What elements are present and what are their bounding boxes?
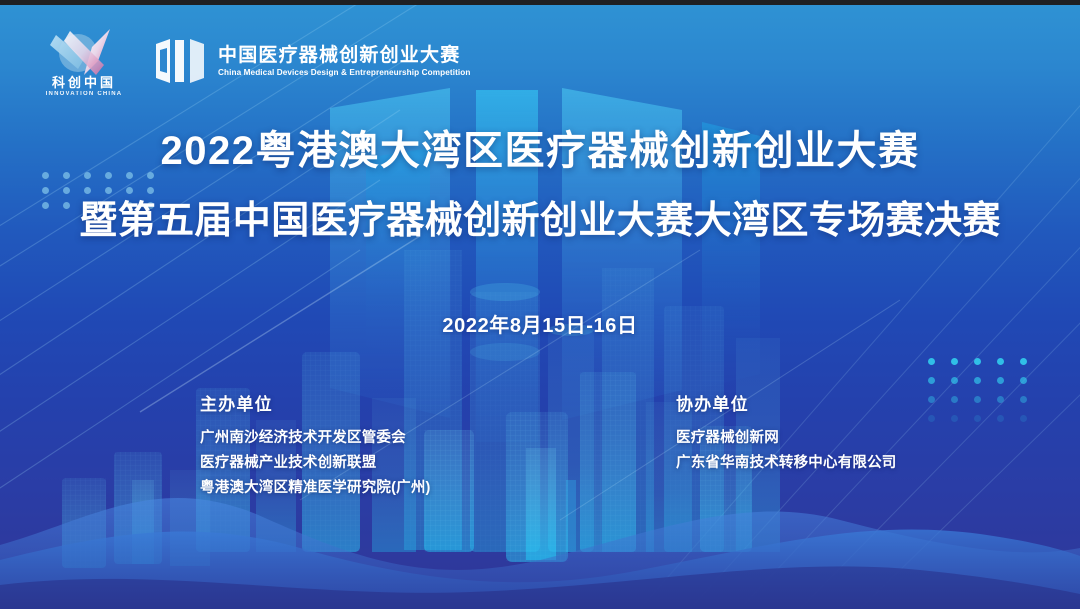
headline-line-2: 暨第五届中国医疗器械创新创业大赛大湾区专场赛决赛 [0, 199, 1080, 245]
co-organizer-block: 协办单位 医疗器械创新网 广东省华南技术转移中心有限公司 [676, 390, 897, 476]
open-door-mark-icon [154, 37, 206, 85]
competition-wordmark: 中国医疗器械创新创业大赛 China Medical Devices Desig… [218, 45, 470, 78]
event-poster: 科创中国 INNOVATION CHINA 中国医疗器械创新创业大赛 China… [0, 0, 1080, 609]
competition-name-en: China Medical Devices Design & Entrepren… [218, 68, 470, 77]
main-organizer-title: 主办单位 [200, 390, 431, 415]
competition-name-cn: 中国医疗器械创新创业大赛 [218, 45, 470, 67]
main-organizer-item: 粤港澳大湾区精准医学研究院(广州) [200, 476, 431, 501]
grid-dot [974, 415, 981, 422]
grid-dot [1020, 377, 1027, 384]
event-date: 2022年8月15日-16日 [0, 309, 1080, 338]
grid-dot [951, 377, 958, 384]
poster-headline: 2022粤港澳大湾区医疗器械创新创业大赛 暨第五届中国医疗器械创新创业大赛大湾区… [0, 128, 1080, 245]
grid-dot [1020, 396, 1027, 403]
grid-dot [951, 358, 958, 365]
grid-dot [928, 396, 935, 403]
co-organizer-item: 广东省华南技术转移中心有限公司 [676, 451, 897, 476]
grid-dot [997, 396, 1004, 403]
dot-grid-right [928, 358, 1040, 432]
grid-dot [951, 415, 958, 422]
innovation-china-en: INNOVATION CHINA [40, 91, 128, 97]
grid-dot [974, 358, 981, 365]
main-organizer-item: 医疗器械产业技术创新联盟 [200, 451, 431, 476]
grid-dot [997, 415, 1004, 422]
header-logo-row: 科创中国 INNOVATION CHINA 中国医疗器械创新创业大赛 China… [0, 22, 1080, 100]
grid-dot [997, 377, 1004, 384]
co-organizer-title: 协办单位 [676, 390, 897, 415]
grid-dot [951, 396, 958, 403]
main-organizer-item: 广州南沙经济技术开发区管委会 [200, 426, 431, 451]
grid-dot [928, 358, 935, 365]
competition-logo: 中国医疗器械创新创业大赛 China Medical Devices Desig… [154, 37, 470, 85]
grid-dot [1020, 358, 1027, 365]
grid-dot [974, 377, 981, 384]
grid-dot [928, 415, 935, 422]
grid-dot [997, 358, 1004, 365]
grid-dot [1020, 415, 1027, 422]
innovation-china-cn: 科创中国 [40, 76, 128, 89]
innovation-china-logo: 科创中国 INNOVATION CHINA [40, 25, 128, 97]
headline-line-1: 2022粤港澳大湾区医疗器械创新创业大赛 [0, 128, 1080, 175]
innovation-china-wordmark: 科创中国 INNOVATION CHINA [40, 76, 128, 97]
co-organizer-item: 医疗器械创新网 [676, 426, 897, 451]
main-organizer-block: 主办单位 广州南沙经济技术开发区管委会 医疗器械产业技术创新联盟 粤港澳大湾区精… [200, 390, 431, 501]
top-dark-strip [0, 0, 1080, 5]
grid-dot [928, 377, 935, 384]
grid-dot [974, 396, 981, 403]
